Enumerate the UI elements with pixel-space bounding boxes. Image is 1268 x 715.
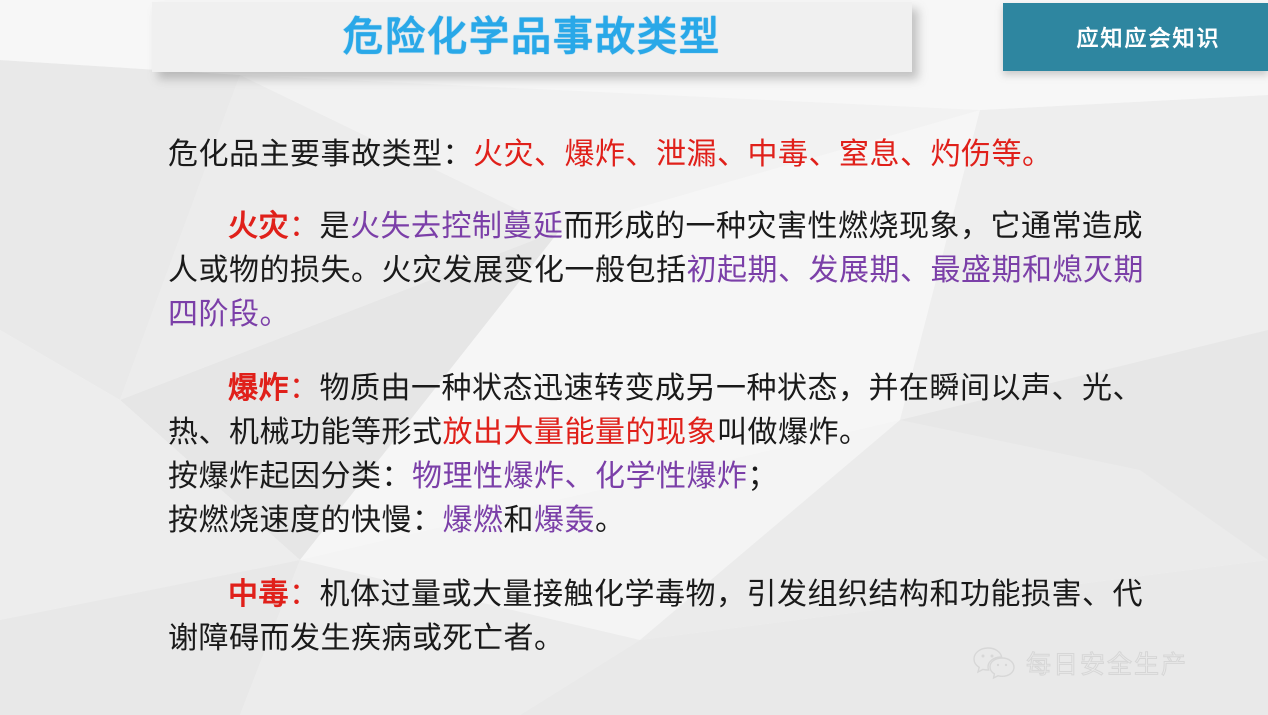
explosion-cause-value: 物理性爆炸、化学性爆炸	[412, 460, 748, 493]
poisoning-term: 中毒	[228, 578, 289, 611]
explosion-speed-label: 按燃烧速度的快慢：	[168, 504, 443, 537]
explosion-text-2: 叫做爆炸。	[717, 416, 870, 449]
fire-paragraph: 火灾：是火失去控制蔓延而形成的一种灾害性燃烧现象，它通常造成人或物的损失。火灾发…	[168, 205, 1168, 337]
explosion-cause-end: ；	[748, 460, 779, 493]
corner-badge-label: 应知应会知识	[1076, 21, 1220, 53]
explosion-speed-line: 按燃烧速度的快慢：爆燃和爆轰。	[168, 499, 1168, 543]
slide-title-bar: 危险化学品事故类型	[152, 2, 912, 72]
spacer	[168, 543, 1168, 573]
corner-badge: 应知应会知识	[1003, 3, 1268, 71]
fire-highlight-1: 火失去控制蔓延	[350, 210, 564, 243]
watermark: 每日安全生产	[972, 645, 1188, 681]
explosion-paragraph: 爆炸：物质由一种状态迅速转变成另一种状态，并在瞬间以声、光、热、机械功能等形式放…	[168, 367, 1168, 455]
intro-label: 危化品主要事故类型：	[168, 138, 473, 171]
fire-term: 火灾	[228, 210, 289, 243]
explosion-speed-mid: 和	[504, 504, 535, 537]
explosion-highlight-1: 放出大量能量的现象	[443, 416, 718, 449]
fire-text-3: 。	[260, 298, 291, 331]
watermark-label: 每日安全生产	[1026, 645, 1188, 681]
explosion-speed-value-1: 爆燃	[443, 504, 504, 537]
page-title: 危险化学品事故类型	[343, 17, 721, 57]
poisoning-colon: ：	[289, 578, 320, 611]
slide-body: 危化品主要事故类型：火灾、爆炸、泄漏、中毒、窒息、灼伤等。 火灾：是火失去控制蔓…	[168, 133, 1168, 661]
wechat-icon	[972, 646, 1016, 680]
intro-paragraph: 危化品主要事故类型：火灾、爆炸、泄漏、中毒、窒息、灼伤等。	[168, 133, 1168, 177]
explosion-cause-line: 按爆炸起因分类：物理性爆炸、化学性爆炸；	[168, 455, 1168, 499]
explosion-term: 爆炸	[228, 372, 289, 405]
slide-canvas: 危险化学品事故类型 应知应会知识 危化品主要事故类型：火灾、爆炸、泄漏、中毒、窒…	[0, 0, 1268, 715]
spacer	[168, 337, 1168, 367]
fire-text-1: 是	[320, 210, 351, 243]
explosion-speed-end: 。	[595, 504, 626, 537]
explosion-speed-value-2: 爆轰	[534, 504, 595, 537]
spacer	[168, 177, 1168, 205]
fire-colon: ：	[289, 210, 320, 243]
explosion-colon: ：	[289, 372, 320, 405]
explosion-cause-label: 按爆炸起因分类：	[168, 460, 412, 493]
intro-types: 火灾、爆炸、泄漏、中毒、窒息、灼伤等。	[473, 138, 1053, 171]
